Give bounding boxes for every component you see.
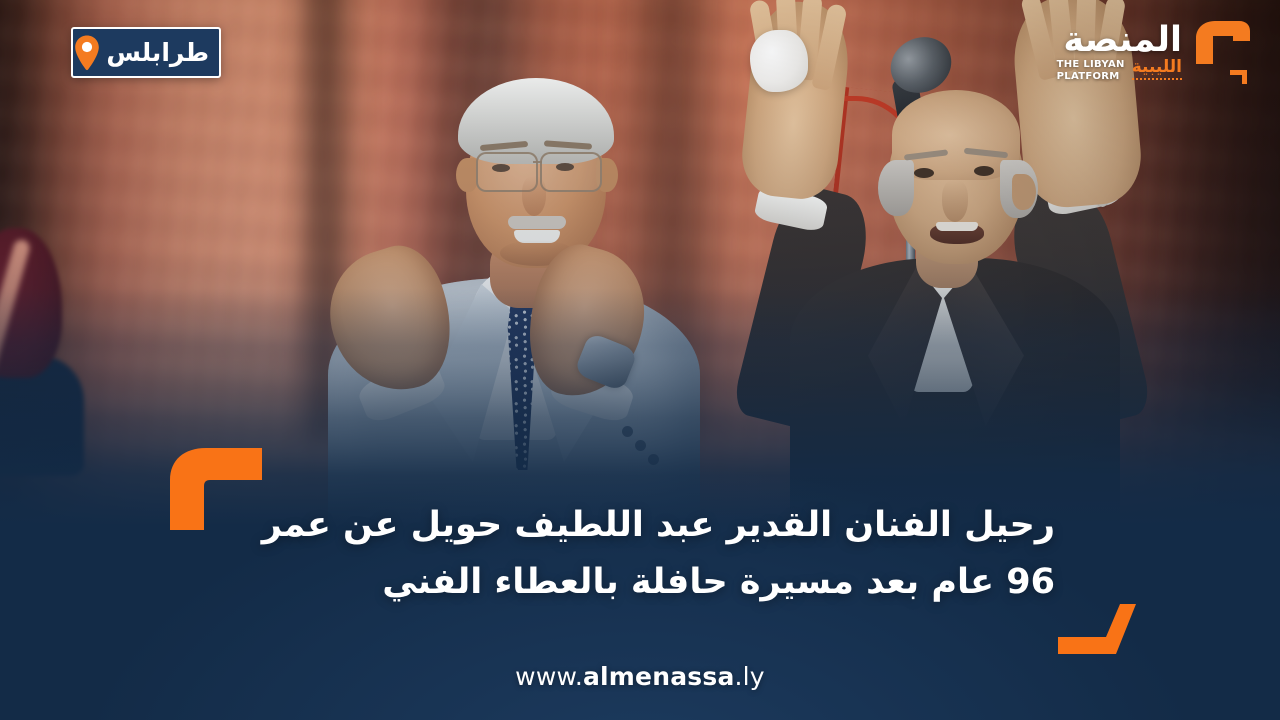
logo-arabic-sub: الليبية	[1132, 59, 1182, 80]
logo-english-line1: THE LIBYAN	[1057, 59, 1125, 71]
logo-wordmark: المنصة THE LIBYAN PLATFORM الليبية	[1057, 18, 1182, 82]
logo-english-line2: PLATFORM	[1057, 71, 1125, 83]
site-url[interactable]: www.almenassa.ly	[0, 664, 1280, 689]
url-suffix: .ly	[735, 662, 765, 691]
headline-text: رحيل الفنان القدير عبد اللطيف حويل عن عم…	[215, 497, 1055, 610]
logo-arabic-main: المنصة	[1063, 24, 1182, 57]
location-badge[interactable]: طرابلس	[71, 27, 221, 78]
location-badge-label: طرابلس	[106, 40, 209, 65]
orange-corner-decoration-icon	[1058, 604, 1136, 660]
site-logo[interactable]: المنصة THE LIBYAN PLATFORM الليبية	[1057, 18, 1256, 90]
url-prefix: www.	[515, 662, 583, 691]
logo-english: THE LIBYAN PLATFORM	[1057, 59, 1125, 82]
logo-subline: THE LIBYAN PLATFORM الليبية	[1057, 59, 1182, 82]
location-pin-icon	[72, 34, 102, 72]
url-name: almenassa	[583, 662, 735, 691]
news-card: طرابلس المنصة THE LIBYAN PLATFORM الليبي…	[0, 0, 1280, 720]
bracket-logomark-icon	[1190, 18, 1256, 90]
